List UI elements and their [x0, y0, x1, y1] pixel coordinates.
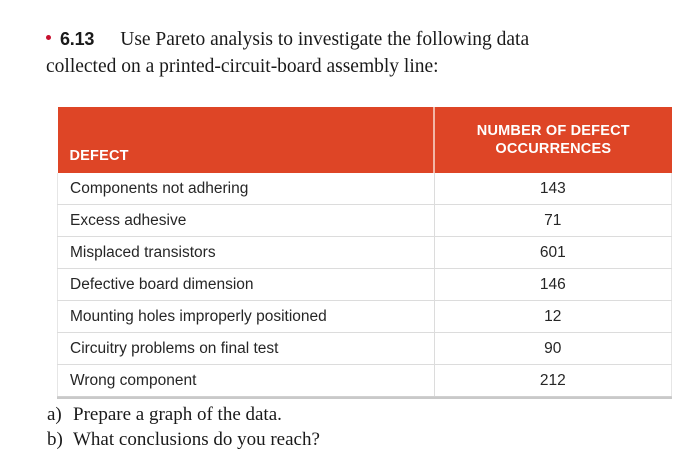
subquestion-a-text: Prepare a graph of the data.	[73, 404, 282, 425]
table-row: Mounting holes improperly positioned 12	[58, 301, 672, 333]
table-row: Defective board dimension 146	[58, 269, 672, 301]
subquestion-b-text: What conclusions do you reach?	[73, 429, 320, 450]
table-body: Components not adhering 143 Excess adhes…	[58, 173, 672, 397]
cell-defect-count: 12	[434, 301, 671, 333]
cell-defect-name: Defective board dimension	[58, 269, 435, 301]
subquestion-list: a)Prepare a graph of the data. b)What co…	[47, 402, 320, 452]
cell-defect-count: 143	[434, 173, 671, 205]
table-row: Misplaced transistors 601	[58, 237, 672, 269]
cell-defect-count: 601	[434, 237, 671, 269]
subquestion-b: b)What conclusions do you reach?	[47, 427, 320, 452]
defect-data-table: DEFECT NUMBER OF DEFECT OCCURRENCES Comp…	[57, 107, 672, 397]
problem-number: 6.13	[60, 29, 94, 49]
table-row: Components not adhering 143	[58, 173, 672, 205]
subquestion-b-label: b)	[47, 427, 73, 452]
cell-defect-name: Components not adhering	[58, 173, 435, 205]
problem-line-1: 6.13Use Pareto analysis to investigate t…	[46, 26, 682, 53]
cell-defect-count: 146	[434, 269, 671, 301]
subquestion-a: a)Prepare a graph of the data.	[47, 402, 320, 427]
subquestion-a-label: a)	[47, 402, 73, 427]
table-header-row: DEFECT NUMBER OF DEFECT OCCURRENCES	[58, 107, 672, 173]
column-header-count-line-1: NUMBER OF DEFECT	[477, 123, 630, 139]
cell-defect-count: 90	[434, 333, 671, 365]
red-dot-bullet-icon	[46, 35, 51, 40]
problem-statement: 6.13Use Pareto analysis to investigate t…	[46, 26, 682, 80]
table-row: Excess adhesive 71	[58, 205, 672, 237]
table-row: Wrong component 212	[58, 365, 672, 397]
table-row: Circuitry problems on final test 90	[58, 333, 672, 365]
textbook-problem-page: 6.13Use Pareto analysis to investigate t…	[0, 0, 700, 473]
cell-defect-name: Wrong component	[58, 365, 435, 397]
cell-defect-name: Misplaced transistors	[58, 237, 435, 269]
column-header-defect: DEFECT	[58, 107, 435, 173]
column-header-count: NUMBER OF DEFECT OCCURRENCES	[434, 107, 671, 173]
cell-defect-count: 212	[434, 365, 671, 397]
column-header-count-line-2: OCCURRENCES	[443, 140, 663, 158]
cell-defect-name: Excess adhesive	[58, 205, 435, 237]
problem-text-line-1: Use Pareto analysis to investigate the f…	[120, 29, 529, 50]
table-header: DEFECT NUMBER OF DEFECT OCCURRENCES	[58, 107, 672, 173]
cell-defect-name: Circuitry problems on final test	[58, 333, 435, 365]
cell-defect-name: Mounting holes improperly positioned	[58, 301, 435, 333]
cell-defect-count: 71	[434, 205, 671, 237]
problem-text-line-2: collected on a printed-circuit-board ass…	[46, 54, 682, 80]
